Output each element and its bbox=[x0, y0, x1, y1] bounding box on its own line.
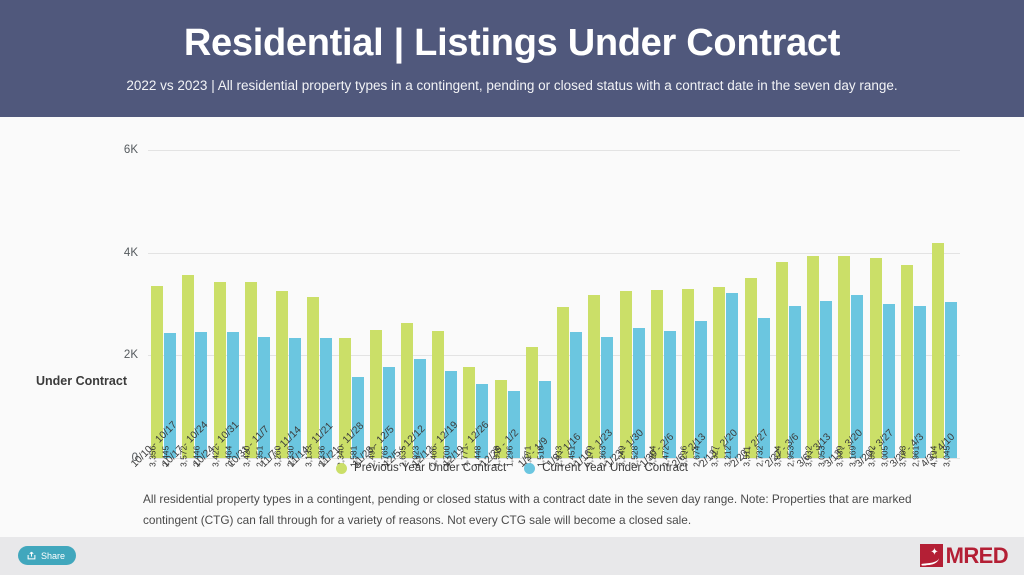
chart-card: Under Contract 02K4K6K 3,3562,4453,5722,… bbox=[0, 117, 1024, 537]
y-axis-tick-label: 4K bbox=[124, 247, 138, 259]
bar-current-year[interactable]: 1,581 bbox=[352, 377, 364, 458]
mred-wordmark: MRED bbox=[946, 545, 1008, 567]
bar-group: 3,7632,961 bbox=[898, 150, 929, 458]
bar-group: 3,5112,732 bbox=[741, 150, 772, 458]
bar-groups: 3,3562,4453,5722,4463,4222,4643,4202,351… bbox=[148, 150, 960, 458]
legend-swatch-previous-year bbox=[336, 463, 347, 474]
bar-group: 2,6351,923 bbox=[398, 150, 429, 458]
bar-group: 3,9393,169 bbox=[835, 150, 866, 458]
bar-previous-year[interactable]: 3,939 bbox=[838, 256, 850, 458]
bar-group: 3,2962,674 bbox=[679, 150, 710, 458]
bar-group: 4,1943,045 bbox=[929, 150, 960, 458]
bar-previous-year[interactable]: 3,892 bbox=[870, 258, 882, 458]
bar-group: 2,1711,510 bbox=[523, 150, 554, 458]
bar-group: 3,2602,330 bbox=[273, 150, 304, 458]
bar-group: 1,5181,296 bbox=[492, 150, 523, 458]
bar-previous-year[interactable]: 3,824 bbox=[776, 262, 788, 458]
page-title: Residential | Listings Under Contract bbox=[184, 24, 840, 64]
bar-group: 3,8923,005 bbox=[866, 150, 897, 458]
swoosh-icon bbox=[920, 554, 939, 566]
bar-group: 2,3401,581 bbox=[335, 150, 366, 458]
bottom-bar: Share ✦ MRED bbox=[0, 537, 1024, 575]
bar-previous-year[interactable]: 4,194 bbox=[932, 243, 944, 458]
bar-group: 3,3273,212 bbox=[710, 150, 741, 458]
bar-group: 2,9332,451 bbox=[554, 150, 585, 458]
bar-group: 3,1792,363 bbox=[585, 150, 616, 458]
chart-legend: Previous Year Under Contract Current Yea… bbox=[0, 462, 1024, 474]
legend-item-previous-year[interactable]: Previous Year Under Contract bbox=[336, 462, 506, 474]
bar-previous-year[interactable]: 3,249 bbox=[620, 291, 632, 458]
chart-footnote: All residential property types in a cont… bbox=[143, 489, 943, 530]
bar-group: 3,3562,445 bbox=[148, 150, 179, 458]
bar-group: 3,5722,446 bbox=[179, 150, 210, 458]
page-subtitle: 2022 vs 2023 | All residential property … bbox=[126, 78, 897, 93]
y-axis-tick-label: 2K bbox=[124, 349, 138, 361]
share-icon bbox=[27, 551, 36, 560]
bar-previous-year[interactable]: 3,327 bbox=[713, 287, 725, 458]
bar-group: 3,9323,053 bbox=[804, 150, 835, 458]
legend-item-current-year[interactable]: Current Year Under Contract bbox=[524, 462, 688, 474]
plot-area: 02K4K6K 3,3562,4453,5722,4463,4222,4643,… bbox=[148, 150, 960, 490]
bar-current-year[interactable]: 1,765 bbox=[383, 367, 395, 458]
bar-current-year[interactable]: 1,296 bbox=[508, 391, 520, 458]
bar-group: 1,7711,448 bbox=[460, 150, 491, 458]
bar-group: 3,8242,953 bbox=[773, 150, 804, 458]
bar-previous-year[interactable]: 3,511 bbox=[745, 278, 757, 458]
mred-mark-icon: ✦ bbox=[920, 544, 943, 567]
mred-logo: ✦ MRED bbox=[920, 542, 1008, 569]
y-axis-title: Under Contract bbox=[36, 372, 132, 390]
bar-group: 3,4202,351 bbox=[242, 150, 273, 458]
page-header: Residential | Listings Under Contract 20… bbox=[0, 0, 1024, 117]
legend-label-previous-year: Previous Year Under Contract bbox=[354, 462, 506, 474]
share-button-label: Share bbox=[41, 551, 65, 561]
bar-group: 3,1332,336 bbox=[304, 150, 335, 458]
bar-previous-year[interactable]: 2,933 bbox=[557, 307, 569, 458]
bar-previous-year[interactable]: 3,932 bbox=[807, 256, 819, 458]
legend-label-current-year: Current Year Under Contract bbox=[542, 462, 688, 474]
share-button[interactable]: Share bbox=[18, 546, 76, 565]
bar-previous-year[interactable]: 3,296 bbox=[682, 289, 694, 458]
bar-group: 3,2642,472 bbox=[648, 150, 679, 458]
chart-page: Residential | Listings Under Contract 20… bbox=[0, 0, 1024, 575]
bar-group: 3,2492,528 bbox=[617, 150, 648, 458]
bar-previous-year[interactable]: 3,264 bbox=[651, 290, 663, 458]
legend-swatch-current-year bbox=[524, 463, 535, 474]
y-axis-tick-label: 6K bbox=[124, 144, 138, 156]
bar-group: 2,4911,765 bbox=[367, 150, 398, 458]
bar-current-year[interactable]: 1,700 bbox=[445, 371, 457, 458]
bar-group: 3,4222,464 bbox=[210, 150, 241, 458]
bar-previous-year[interactable]: 3,179 bbox=[588, 295, 600, 458]
bar-previous-year[interactable]: 3,763 bbox=[901, 265, 913, 458]
bar-group: 2,4661,700 bbox=[429, 150, 460, 458]
